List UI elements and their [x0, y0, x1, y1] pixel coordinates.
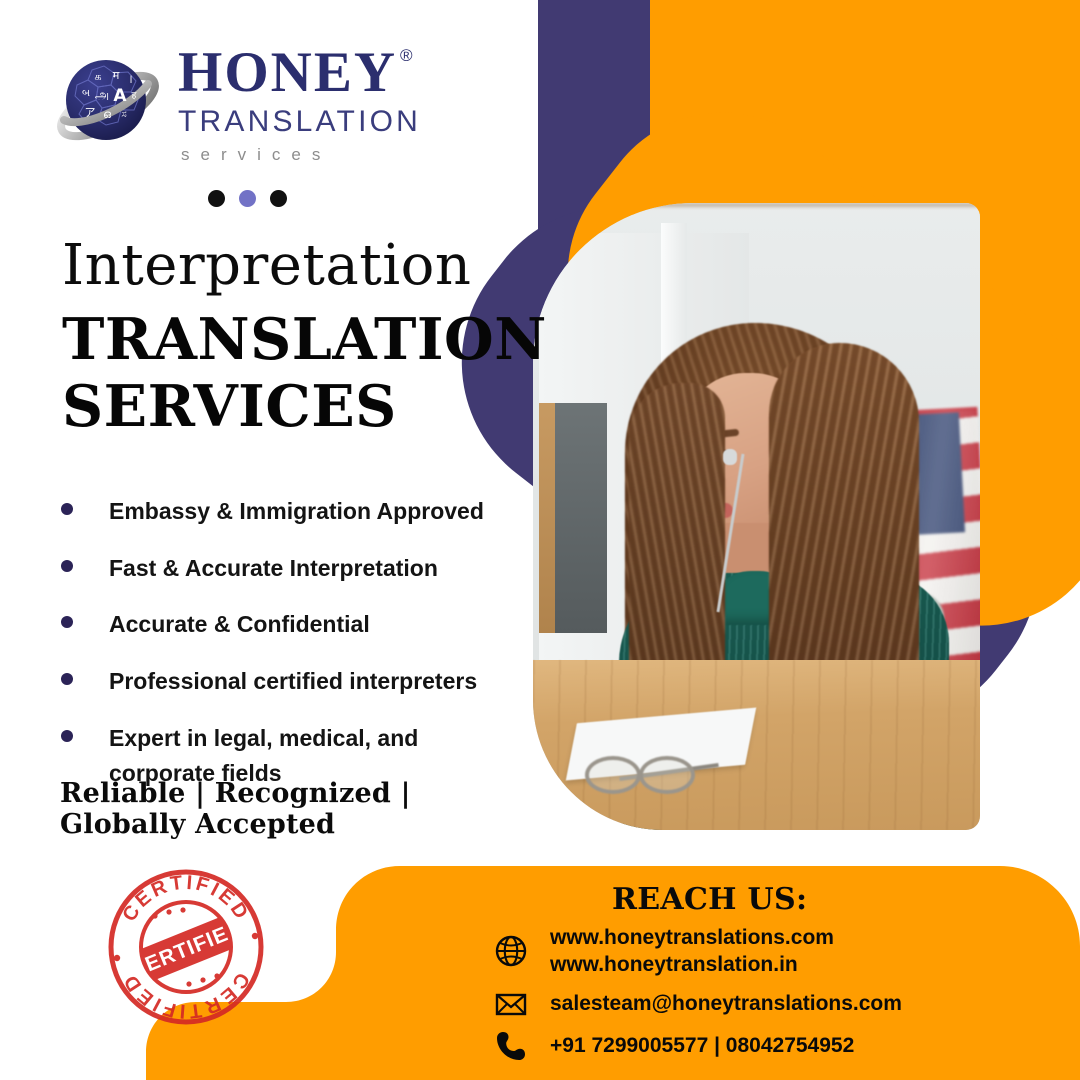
website-primary[interactable]: www.honeytranslations.com: [550, 924, 834, 951]
contact-row-phone[interactable]: +91 7299005577 | 08042754952: [494, 1029, 902, 1063]
feature-text: Professional certified interpreters: [109, 664, 477, 700]
dot-black-left: [208, 190, 225, 207]
svg-text:ഒ: ഒ: [103, 108, 111, 121]
envelope-icon: [494, 987, 528, 1021]
logo-primary-name: HONEY: [178, 44, 397, 101]
list-item: Accurate & Confidential: [52, 607, 522, 643]
poster-canvas: க म ا બ அ A ह ア ഒ ಸ HONEY ® TRANSLATION: [0, 0, 1080, 1080]
email-address[interactable]: salesteam@honeytranslations.com: [550, 990, 902, 1017]
feature-text: Embassy & Immigration Approved: [109, 494, 484, 530]
headline-script: Interpretation: [62, 238, 471, 294]
contact-row-website[interactable]: www.honeytranslations.com www.honeytrans…: [494, 924, 902, 979]
svg-text:म: म: [113, 69, 120, 82]
dot-periwinkle-center: [239, 190, 256, 207]
headline-main-line-1: TRANSLATION: [62, 306, 547, 373]
svg-text:ア: ア: [85, 106, 96, 119]
dot-black-right: [270, 190, 287, 207]
list-item: Professional certified interpreters: [52, 664, 522, 700]
headline-main: TRANSLATION SERVICES: [62, 306, 547, 441]
phone-numbers[interactable]: +91 7299005577 | 08042754952: [550, 1032, 854, 1059]
logo-secondary-name: TRANSLATION: [178, 103, 421, 141]
registered-trademark-icon: ®: [400, 46, 413, 66]
svg-text:બ: બ: [82, 88, 90, 99]
headline-main-line-2: SERVICES: [62, 373, 547, 440]
tagline: Reliable | Recognized | Globally Accepte…: [60, 778, 540, 840]
bullet-dot-icon: [61, 730, 73, 742]
svg-text:ह: ह: [132, 91, 137, 101]
globe-icon: [494, 934, 528, 968]
interpreter-photo: [533, 203, 980, 830]
bullet-dot-icon: [61, 616, 73, 628]
feature-text: Fast & Accurate Interpretation: [109, 551, 438, 587]
feature-text: Accurate & Confidential: [109, 607, 370, 643]
svg-text:ا: ا: [130, 75, 133, 86]
certified-stamp-icon: CERTIFIED CERTIFIED CERTIFIED: [107, 868, 265, 1026]
bullet-dot-icon: [61, 503, 73, 515]
svg-text:அ: அ: [95, 88, 109, 103]
logo-tertiary-name: services: [181, 145, 421, 165]
eyeglasses-on-desk: [585, 760, 717, 794]
svg-text:A: A: [113, 86, 127, 106]
website-list: www.honeytranslations.com www.honeytrans…: [550, 924, 834, 979]
decorative-dots: [208, 190, 287, 207]
svg-text:CERTIFIED: CERTIFIED: [118, 872, 253, 926]
list-item: Embassy & Immigration Approved: [52, 494, 522, 530]
bullet-dot-icon: [61, 673, 73, 685]
svg-text:CERTIFIED: CERTIFIED: [118, 969, 253, 1023]
globe-languages-icon: க म ا બ அ A ह ア ഒ ಸ: [52, 48, 164, 160]
feature-list: Embassy & Immigration Approved Fast & Ac…: [52, 494, 522, 813]
bullet-dot-icon: [61, 560, 73, 572]
reach-us-title: REACH US:: [612, 882, 807, 917]
contact-row-email[interactable]: salesteam@honeytranslations.com: [494, 987, 902, 1021]
brand-logo[interactable]: க म ا બ அ A ह ア ഒ ಸ HONEY ® TRANSLATION: [52, 44, 421, 165]
reach-us-content: REACH US: www.honeytranslations.com www.…: [420, 866, 1080, 1080]
list-item: Fast & Accurate Interpretation: [52, 551, 522, 587]
svg-text:க: க: [94, 70, 101, 83]
website-secondary[interactable]: www.honeytranslation.in: [550, 951, 834, 978]
phone-icon: [494, 1029, 528, 1063]
svg-text:ಸ: ಸ: [121, 109, 126, 120]
